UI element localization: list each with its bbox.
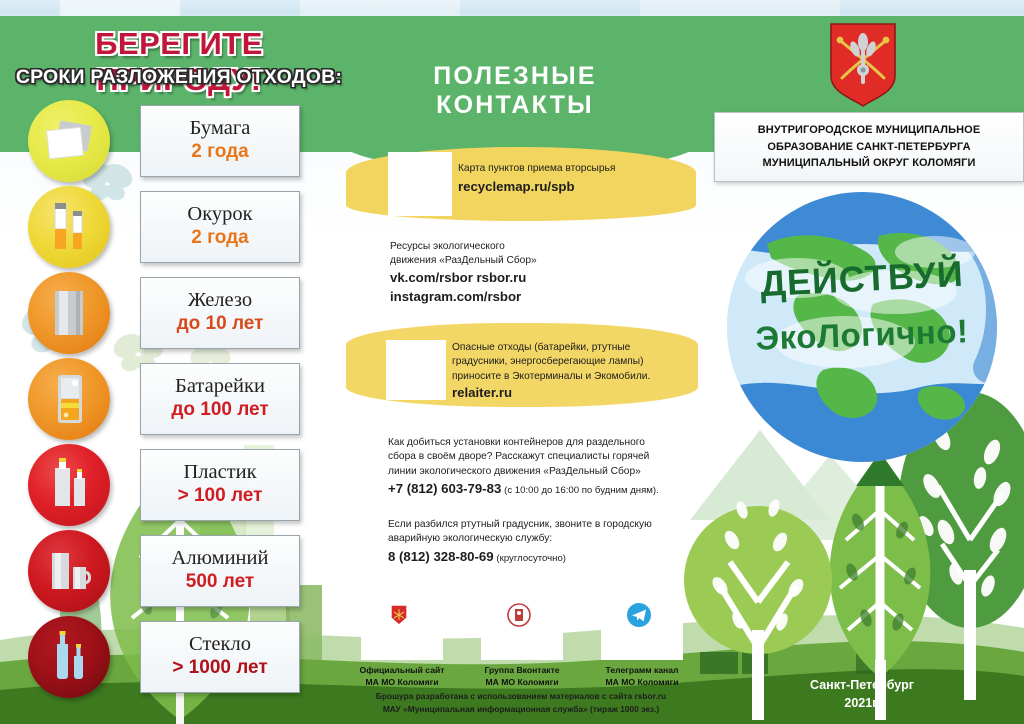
waste-row: Батарейки до 100 лет [0, 356, 340, 442]
qr-rsbor[interactable] [578, 246, 642, 310]
social-qr-cell: Группа Вконтакте МА МО Коломяги [472, 578, 572, 678]
waste-icon-circle [28, 444, 110, 526]
hotline-line1: Как добиться установки контейнеров для р… [388, 436, 688, 450]
waste-decomposition-list: Бумага 2 года Окурок 2 года [0, 98, 340, 698]
waste-time: > 100 лет [178, 484, 263, 508]
waste-name: Бумага [190, 118, 251, 140]
emergency-phone[interactable]: 8 (812) 328-80-69 [388, 549, 494, 564]
glass-bottles-icon [28, 616, 110, 698]
social-qr-cell: Телеграмм канал МА МО Коломяги [592, 578, 692, 678]
plastic-bottles-icon [28, 444, 110, 526]
waste-name: Батарейки [175, 376, 265, 398]
waste-icon-circle [28, 100, 110, 182]
municipality-line2: ОБРАЗОВАНИЕ САНКТ-ПЕТЕРБУРГА [721, 139, 1017, 156]
rsbor-url2[interactable]: instagram.com/rsbor [390, 288, 600, 307]
waste-time: 500 лет [186, 570, 254, 594]
paper-sheets-icon [28, 100, 110, 182]
eco-brochure-poster: БЕРЕГИТЕ ПРИРОДУ! СРОКИ РАЗЛОЖЕНИЯ ОТХОД… [0, 0, 1024, 724]
qr-vkontakte-group[interactable] [481, 578, 563, 660]
municipality-name-box: ВНУТРИГОРОДСКОЕ МУНИЦИПАЛЬНОЕ ОБРАЗОВАНИ… [714, 112, 1024, 182]
waste-name: Алюминий [172, 548, 269, 570]
imprint-footnote: Брошура разработана с использованием мат… [346, 690, 696, 715]
qr-caption-line1: Официальный сайт [352, 665, 452, 677]
municipality-line1: ВНУТРИГОРОДСКОЕ МУНИЦИПАЛЬНОЕ [721, 122, 1017, 139]
imprint-city: Санкт-Петербург [700, 676, 1024, 694]
qr-caption-line1: Телеграмм канал [592, 665, 692, 677]
waste-name: Стекло [189, 634, 251, 656]
rsbor-line2: движения «РазДельный Сбор» [390, 254, 600, 268]
municipality-line3: МУНИЦИПАЛЬНЫЙ ОКРУГ КОЛОМЯГИ [721, 155, 1017, 172]
telegram-badge [626, 602, 652, 628]
contacts-column: Карта пунктов приема вторсырья recyclema… [340, 0, 700, 724]
hazardous-line3: приносите в Экотерминалы и Экомобили. [452, 370, 688, 384]
recyclemap-description: Карта пунктов приема вторсырья [458, 162, 676, 176]
qr-caption: Телеграмм канал МА МО Коломяги [592, 665, 692, 688]
waste-name: Железо [188, 290, 252, 312]
qr-official-site[interactable] [361, 578, 443, 660]
imprint-city-year: Санкт-Петербург 2021г. [700, 676, 1024, 712]
hotline-line2: сбора в своём дворе? Расскажут специалис… [388, 450, 688, 464]
waste-label-box: Пластик > 100 лет [140, 449, 300, 521]
waste-icon-circle [28, 186, 110, 268]
qr-caption-line2: МА МО Коломяги [352, 677, 452, 689]
waste-row: Бумага 2 года [0, 98, 340, 184]
waste-label-box: Стекло > 1000 лет [140, 621, 300, 693]
waste-icon-circle [28, 530, 110, 612]
hotline-block: Как добиться установки контейнеров для р… [388, 436, 688, 499]
hotline-phone-note: (с 10:00 до 16:00 по будним дням). [504, 485, 659, 496]
imprint-year: 2021г. [700, 694, 1024, 712]
waste-time: 2 года [191, 140, 249, 164]
qr-caption-line2: МА МО Коломяги [472, 677, 572, 689]
vk-badge [507, 603, 531, 627]
waste-row: Пластик > 100 лет [0, 442, 340, 528]
recyclemap-url[interactable]: recyclemap.ru/spb [458, 178, 676, 197]
waste-icon-circle [28, 616, 110, 698]
hazardous-line1: Опасные отходы (батарейки, ртутные [452, 341, 688, 355]
waste-row: Окурок 2 года [0, 184, 340, 270]
metal-can-icon [28, 272, 110, 354]
qr-recyclemap[interactable] [388, 152, 452, 216]
footnote-line2: МАУ «Муниципальная информационная служба… [346, 703, 696, 716]
recyclemap-text: Карта пунктов приема вторсырья recyclema… [458, 162, 676, 197]
qr-caption: Группа Вконтакте МА МО Коломяги [472, 665, 572, 688]
kolomyagi-coat-of-arms [828, 22, 898, 108]
battery-icon [28, 358, 110, 440]
social-qr-row: Официальный сайт МА МО Коломяги Группа В… [352, 578, 692, 678]
aluminium-cans-icon [28, 530, 110, 612]
emergency-phone-note: (круглосуточно) [496, 553, 566, 564]
waste-label-box: Бумага 2 года [140, 105, 300, 177]
waste-row: Стекло > 1000 лет [0, 614, 340, 700]
qr-relaiter[interactable] [386, 340, 446, 400]
waste-name: Окурок [187, 204, 252, 226]
waste-label-box: Окурок 2 года [140, 191, 300, 263]
coat-of-arms-badge [390, 604, 408, 626]
waste-time: до 10 лет [177, 312, 264, 336]
qr-caption-line2: МА МО Коломяги [592, 677, 692, 689]
footnote-line1: Брошура разработана с использованием мат… [346, 690, 696, 703]
page-subtitle: СРОКИ РАЗЛОЖЕНИЯ ОТХОДОВ: [14, 66, 344, 89]
rsbor-url1[interactable]: vk.com/rsbor rsbor.ru [390, 269, 600, 288]
hazardous-line2: градусники, энергосберегающие лампы) [452, 355, 688, 369]
waste-time: > 1000 лет [172, 656, 267, 680]
rsbor-line1: Ресурсы экологического [390, 240, 600, 254]
qr-caption-line1: Группа Вконтакте [472, 665, 572, 677]
waste-time: 2 года [191, 226, 249, 250]
social-qr-cell: Официальный сайт МА МО Коломяги [352, 578, 452, 678]
waste-name: Пластик [183, 462, 256, 484]
municipality-column: ВНУТРИГОРОДСКОЕ МУНИЦИПАЛЬНОЕ ОБРАЗОВАНИ… [700, 0, 1024, 724]
qr-telegram-channel[interactable] [601, 578, 683, 660]
waste-row: Железо до 10 лет [0, 270, 340, 356]
hazardous-text: Опасные отходы (батарейки, ртутные граду… [452, 341, 688, 403]
emergency-line2: аварийную экологическую службу: [388, 532, 688, 546]
rsbor-text: Ресурсы экологического движения «РазДель… [390, 240, 600, 306]
waste-icon-circle [28, 358, 110, 440]
emergency-block: Если разбился ртутный градусник, звоните… [388, 518, 688, 567]
cigarette-butts-icon [28, 186, 110, 268]
waste-row: Алюминий 500 лет [0, 528, 340, 614]
waste-icon-circle [28, 272, 110, 354]
hotline-line3: линии экологического движения «РазДельны… [388, 465, 688, 479]
hazardous-url[interactable]: relaiter.ru [452, 384, 688, 403]
emergency-line1: Если разбился ртутный градусник, звоните… [388, 518, 688, 532]
hotline-phone[interactable]: +7 (812) 603-79-83 [388, 481, 501, 496]
waste-label-box: Алюминий 500 лет [140, 535, 300, 607]
waste-label-box: Железо до 10 лет [140, 277, 300, 349]
waste-time: до 100 лет [171, 398, 268, 422]
waste-label-box: Батарейки до 100 лет [140, 363, 300, 435]
qr-caption: Официальный сайт МА МО Коломяги [352, 665, 452, 688]
